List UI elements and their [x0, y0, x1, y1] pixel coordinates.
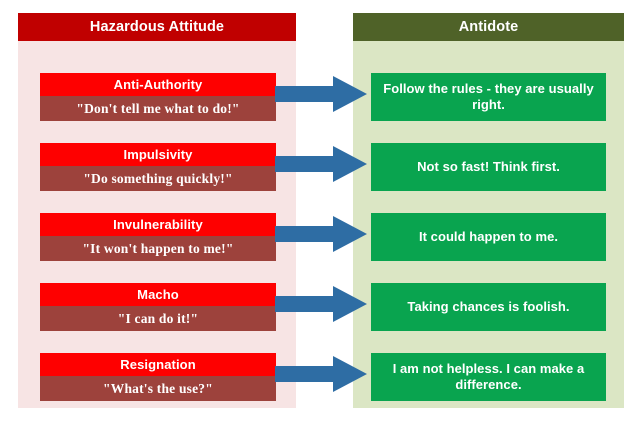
- hazard-item[interactable]: Resignation "What's the use?": [40, 353, 276, 401]
- antidote-item[interactable]: It could happen to me.: [371, 213, 606, 261]
- hazard-item-quote: "What's the use?": [40, 376, 276, 401]
- right-arrow-icon: [275, 76, 367, 112]
- hazard-item-title: Macho: [40, 283, 276, 306]
- hazard-item-quote: "It won't happen to me!": [40, 236, 276, 261]
- hazard-item[interactable]: Impulsivity "Do something quickly!": [40, 143, 276, 191]
- right-arrow-icon: [275, 286, 367, 322]
- right-arrow-icon: [275, 146, 367, 182]
- hazard-item-title: Invulnerability: [40, 213, 276, 236]
- hazard-item-title: Resignation: [40, 353, 276, 376]
- hazard-item-quote: "I can do it!": [40, 306, 276, 331]
- antidote-item[interactable]: I am not helpless. I can make a differen…: [371, 353, 606, 401]
- hazardous-attitude-header: Hazardous Attitude: [18, 13, 296, 41]
- antidote-item[interactable]: Taking chances is foolish.: [371, 283, 606, 331]
- hazard-item-quote: "Don't tell me what to do!": [40, 96, 276, 121]
- hazard-item[interactable]: Macho "I can do it!": [40, 283, 276, 331]
- hazard-item[interactable]: Anti-Authority "Don't tell me what to do…: [40, 73, 276, 121]
- hazard-item-title: Anti-Authority: [40, 73, 276, 96]
- antidote-header: Antidote: [353, 13, 624, 41]
- right-arrow-icon: [275, 356, 367, 392]
- right-arrow-icon: [275, 216, 367, 252]
- hazard-item[interactable]: Invulnerability "It won't happen to me!": [40, 213, 276, 261]
- hazard-item-title: Impulsivity: [40, 143, 276, 166]
- hazard-item-quote: "Do something quickly!": [40, 166, 276, 191]
- antidote-item[interactable]: Not so fast! Think first.: [371, 143, 606, 191]
- antidote-item[interactable]: Follow the rules - they are usually righ…: [371, 73, 606, 121]
